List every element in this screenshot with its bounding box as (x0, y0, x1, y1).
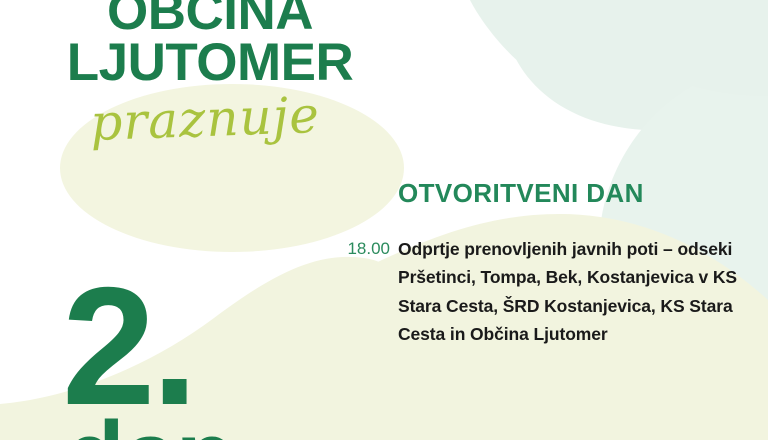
program-entry: 18.00 Odprtje prenovljenih javnih poti –… (330, 235, 750, 348)
mint-corner-fill (600, 0, 768, 96)
day-word-label: dan (66, 408, 234, 440)
headline-line-1: OBČINA (0, 0, 420, 37)
poster-canvas: OBČINA LJUTOMER praznuje 2. dan OTVORITV… (0, 0, 768, 440)
program-entry-description: Odprtje prenovljenih javnih poti – odsek… (398, 235, 750, 348)
headline-line-2: LJUTOMER (0, 37, 420, 88)
program-section: OTVORITVENI DAN 18.00 Odprtje prenovljen… (330, 178, 750, 348)
poster-headline: OBČINA LJUTOMER (0, 0, 420, 89)
mint-top-right-blob-main (500, 0, 768, 150)
mint-top-right-blob (470, 0, 768, 115)
script-subtitle: praznuje (0, 87, 411, 151)
program-title: OTVORITVENI DAN (398, 178, 750, 209)
program-entry-time: 18.00 (330, 235, 390, 263)
